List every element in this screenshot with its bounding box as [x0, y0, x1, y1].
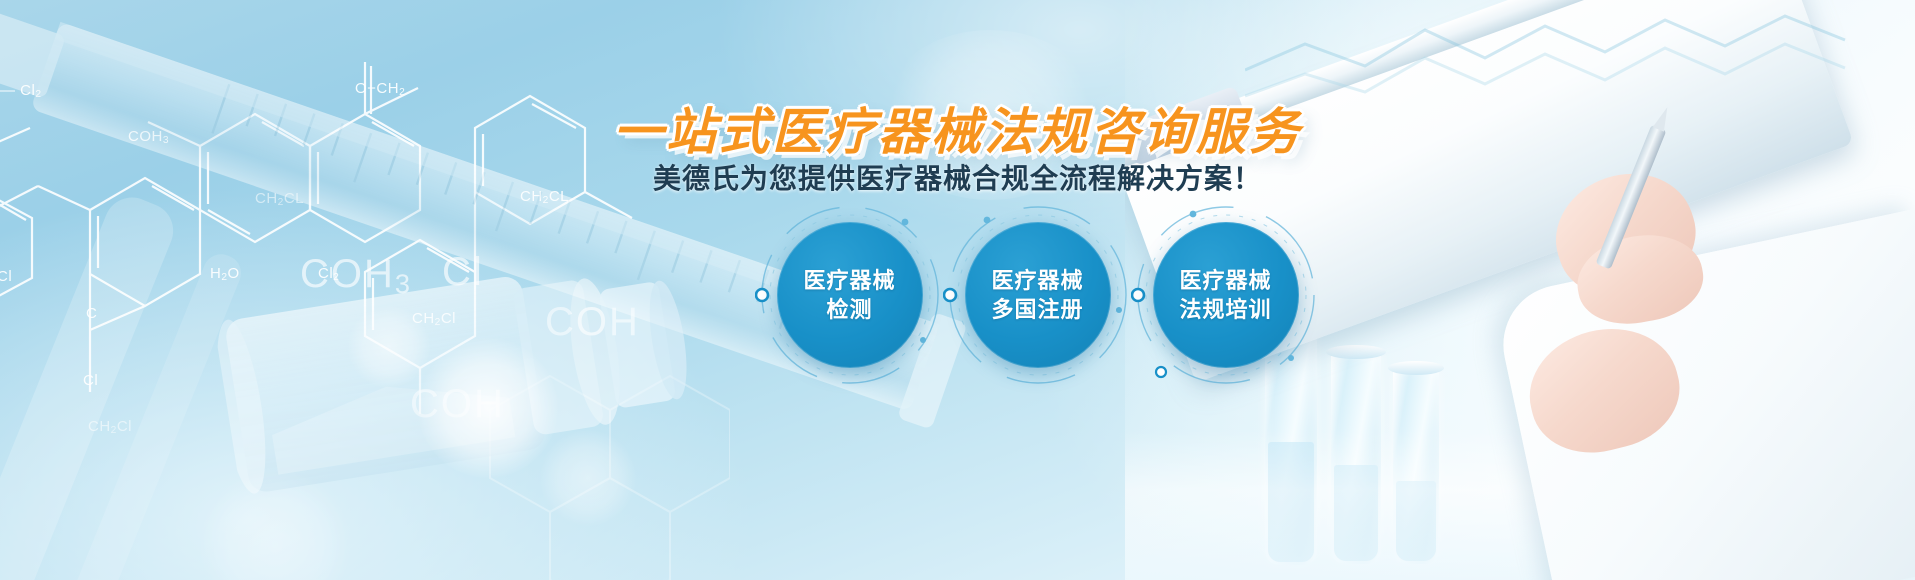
circle-label-line1: 医疗器械 [1179, 266, 1271, 295]
service-circle-inspection[interactable]: 医疗器械 检测 [777, 222, 923, 368]
page-subtitle: 美德氏为您提供医疗器械合规全流程解决方案！ [0, 157, 1915, 197]
page-title: 一站式医疗器械法规咨询服务 [0, 92, 1915, 164]
bokeh-light [200, 470, 350, 580]
service-circle-wrap-2: 医疗器械 多国注册 [965, 222, 1111, 368]
promo-banner: — Cl2 COH3 O−CH2 CH2CL H2O Cl2 CH2Cl Cl … [0, 0, 1915, 580]
circle-label-line2: 多国注册 [991, 295, 1083, 324]
molecule-label: CH2Cl [88, 418, 132, 436]
circle-label-line1: 医疗器械 [803, 266, 895, 295]
service-circle-group: 医疗器械 检测 医疗器械 多国注册 [0, 222, 1915, 368]
bokeh-light [540, 430, 636, 526]
circle-label-line2: 检测 [826, 295, 872, 324]
molecule-ghost-label: COH [410, 382, 505, 427]
circle-label-line2: 法规培训 [1179, 295, 1271, 324]
service-circle-training[interactable]: 医疗器械 法规培训 [1153, 222, 1299, 368]
service-circle-wrap-3: 医疗器械 法规培训 [1153, 222, 1299, 368]
service-circle-registration[interactable]: 医疗器械 多国注册 [965, 222, 1111, 368]
molecule-label: Cl [83, 372, 98, 389]
circle-label-line1: 医疗器械 [991, 266, 1083, 295]
service-circle-wrap-1: 医疗器械 检测 [777, 222, 923, 368]
